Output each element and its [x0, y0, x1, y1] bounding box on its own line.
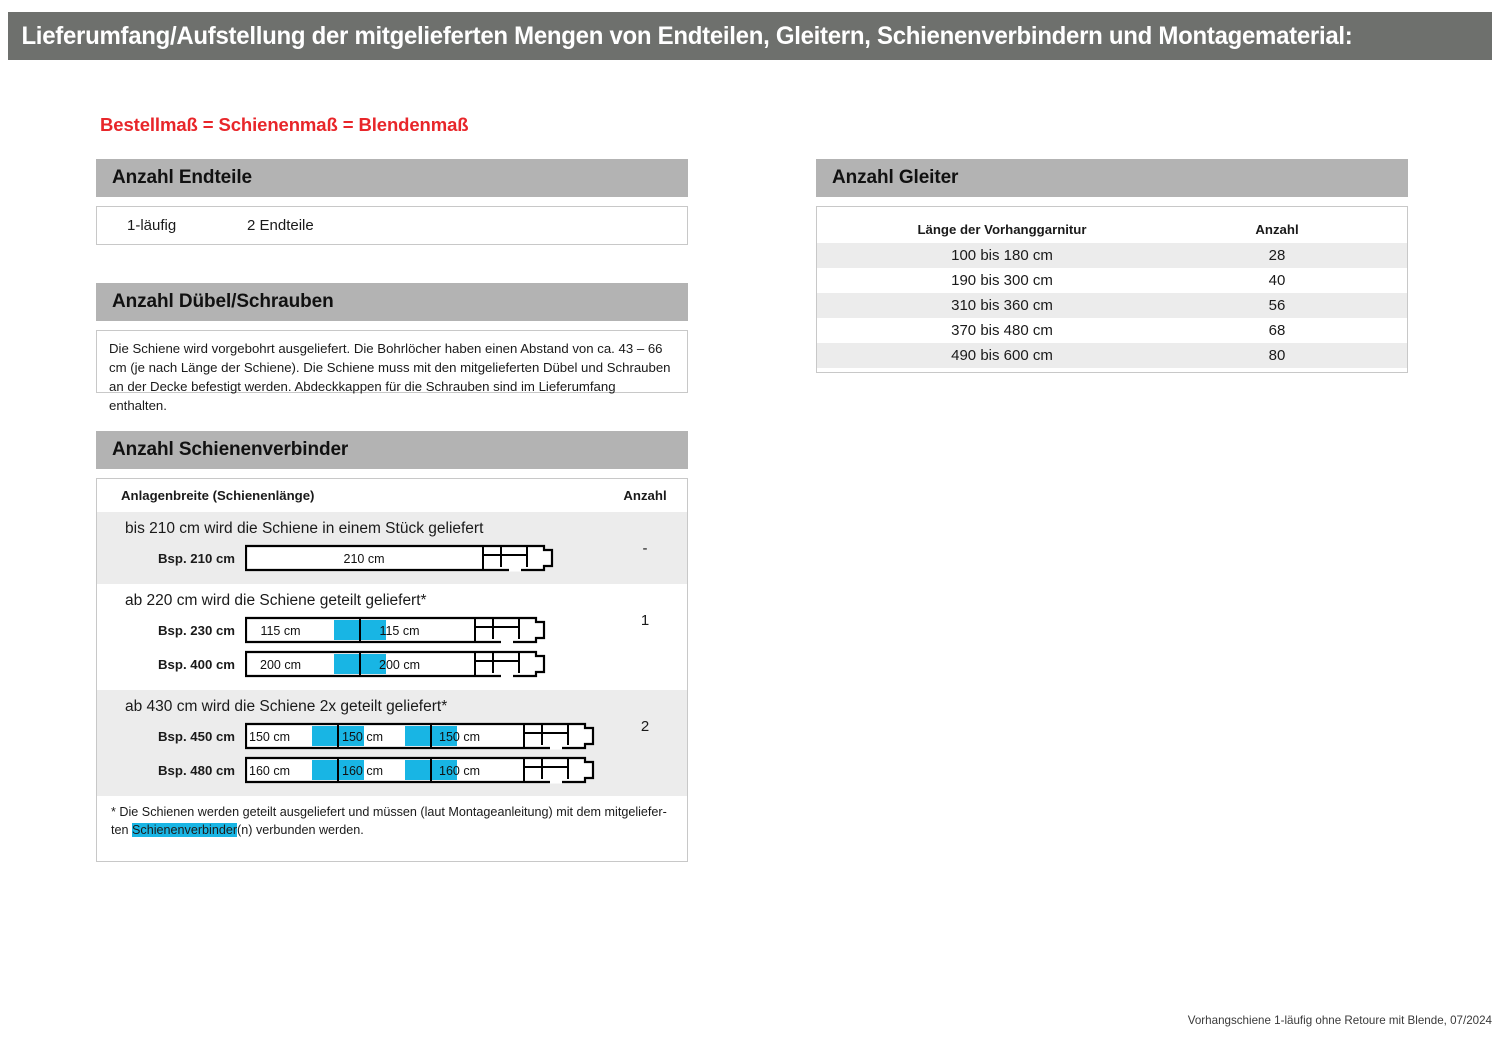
gleiter-count-cell: 56 [1187, 297, 1367, 314]
rail-example-row: Bsp. 230 cm115 cm115 cm [97, 613, 603, 647]
rail-example-label: Bsp. 230 cm [97, 623, 245, 638]
gleiter-row-list: 100 bis 180 cm28190 bis 300 cm40310 bis … [817, 243, 1407, 368]
column-header-anlagenbreite: Anlagenbreite (Schienenlänge) [121, 488, 603, 503]
schienenverbinder-group-count: 1 [603, 584, 687, 690]
svg-text:150 cm: 150 cm [342, 730, 383, 744]
svg-text:200 cm: 200 cm [260, 658, 301, 672]
gleiter-range-cell: 100 bis 180 cm [817, 247, 1187, 264]
footnote-part-2: (n) verbunden werden. [237, 823, 364, 837]
gleiter-table-row: 310 bis 360 cm56 [817, 293, 1407, 318]
schienenverbinder-group: ab 220 cm wird die Schiene geteilt gelie… [97, 584, 687, 690]
schienenverbinder-group: ab 430 cm wird die Schiene 2x geteilt ge… [97, 690, 687, 796]
svg-text:200 cm: 200 cm [379, 658, 420, 672]
section-header-duebel: Anzahl Dübel/Schrauben [96, 283, 688, 321]
gleiter-header-row: Länge der Vorhanggarnitur Anzahl [817, 213, 1407, 243]
rail-example-label: Bsp. 480 cm [97, 763, 245, 778]
schienenverbinder-box: Anlagenbreite (Schienenlänge) Anzahl bis… [96, 478, 688, 862]
schienenverbinder-footnote: * Die Schienen werden geteilt ausgeliefe… [97, 796, 687, 839]
gleiter-table-row: 190 bis 300 cm40 [817, 268, 1407, 293]
rail-diagram: 150 cm150 cm150 cm [245, 721, 598, 751]
section-header-gleiter-label: Anzahl Gleiter [816, 167, 958, 189]
endteile-value: 2 Endteile [247, 217, 314, 234]
svg-text:150 cm: 150 cm [249, 730, 290, 744]
rail-diagram: 115 cm115 cm [245, 615, 549, 645]
rail-example-row: Bsp. 480 cm160 cm160 cm160 cm [97, 753, 603, 787]
column-header-anzahl: Anzahl [603, 488, 687, 503]
svg-text:210 cm: 210 cm [344, 552, 385, 566]
gleiter-range-cell: 490 bis 600 cm [817, 347, 1187, 364]
rail-example-label: Bsp. 210 cm [97, 551, 245, 566]
svg-text:160 cm: 160 cm [439, 764, 480, 778]
gleiter-table-row: 100 bis 180 cm28 [817, 243, 1407, 268]
schienenverbinder-group-count: - [603, 512, 687, 584]
section-header-endteile-label: Anzahl Endteile [96, 167, 252, 189]
gleiter-column-header-laenge: Länge der Vorhanggarnitur [817, 222, 1187, 237]
schienenverbinder-group-caption: ab 220 cm wird die Schiene geteilt gelie… [97, 589, 603, 613]
section-header-gleiter: Anzahl Gleiter [816, 159, 1408, 197]
section-header-schienenverbinder-label: Anzahl Schienenverbinder [96, 439, 348, 461]
rail-example-label: Bsp. 450 cm [97, 729, 245, 744]
page-title: Lieferumfang/Aufstellung der mitgeliefer… [8, 22, 1353, 51]
schienenverbinder-group-list: bis 210 cm wird die Schiene in einem Stü… [97, 512, 687, 796]
schienenverbinder-group: bis 210 cm wird die Schiene in einem Stü… [97, 512, 687, 584]
svg-text:115 cm: 115 cm [379, 624, 419, 638]
gleiter-table-row: 370 bis 480 cm68 [817, 318, 1407, 343]
schienenverbinder-group-main: ab 430 cm wird die Schiene 2x geteilt ge… [97, 690, 603, 796]
schienenverbinder-group-count: 2 [603, 690, 687, 796]
gleiter-count-cell: 68 [1187, 322, 1367, 339]
duebel-box: Die Schiene wird vorgebohrt ausgeliefert… [96, 330, 688, 393]
svg-text:150 cm: 150 cm [439, 730, 480, 744]
endteile-box: 1-läufig 2 Endteile [96, 206, 688, 245]
gleiter-range-cell: 310 bis 360 cm [817, 297, 1187, 314]
footnote-highlight: Schienenverbinder [132, 823, 237, 837]
gleiter-count-cell: 28 [1187, 247, 1367, 264]
rail-diagram: 210 cm [245, 543, 557, 573]
rail-diagram: 200 cm200 cm [245, 649, 549, 679]
gleiter-range-cell: 190 bis 300 cm [817, 272, 1187, 289]
schienenverbinder-group-main: ab 220 cm wird die Schiene geteilt gelie… [97, 584, 603, 690]
gleiter-range-cell: 370 bis 480 cm [817, 322, 1187, 339]
schienenverbinder-group-caption: ab 430 cm wird die Schiene 2x geteilt ge… [97, 695, 603, 719]
schienenverbinder-group-inner: bis 210 cm wird die Schiene in einem Stü… [97, 512, 687, 584]
page-banner: Lieferumfang/Aufstellung der mitgeliefer… [8, 12, 1492, 60]
gleiter-count-cell: 40 [1187, 272, 1367, 289]
rail-example-row: Bsp. 400 cm200 cm200 cm [97, 647, 603, 681]
schienenverbinder-group-inner: ab 220 cm wird die Schiene geteilt gelie… [97, 584, 687, 690]
gleiter-column-header-anzahl: Anzahl [1187, 222, 1367, 237]
rail-example-row: Bsp. 210 cm210 cm [97, 541, 603, 575]
schienenverbinder-group-caption: bis 210 cm wird die Schiene in einem Stü… [97, 517, 603, 541]
schienenverbinder-group-inner: ab 430 cm wird die Schiene 2x geteilt ge… [97, 690, 687, 796]
svg-text:160 cm: 160 cm [342, 764, 383, 778]
section-header-schienenverbinder: Anzahl Schienenverbinder [96, 431, 688, 469]
section-header-endteile: Anzahl Endteile [96, 159, 688, 197]
rail-diagram: 160 cm160 cm160 cm [245, 755, 598, 785]
svg-text:115 cm: 115 cm [260, 624, 300, 638]
gleiter-table-row: 490 bis 600 cm80 [817, 343, 1407, 368]
rail-example-row: Bsp. 450 cm150 cm150 cm150 cm [97, 719, 603, 753]
endteile-variant: 1-läufig [97, 217, 247, 234]
section-header-duebel-label: Anzahl Dübel/Schrauben [96, 291, 334, 313]
gleiter-table: Länge der Vorhanggarnitur Anzahl 100 bis… [816, 206, 1408, 373]
bestellmass-heading: Bestellmaß = Schienenmaß = Blendenmaß [100, 114, 468, 136]
page-footer: Vorhangschiene 1-läufig ohne Retoure mit… [1188, 1014, 1492, 1027]
schienenverbinder-group-main: bis 210 cm wird die Schiene in einem Stü… [97, 512, 603, 584]
duebel-text: Die Schiene wird vorgebohrt ausgeliefert… [109, 339, 675, 415]
svg-text:160 cm: 160 cm [249, 764, 290, 778]
schienenverbinder-table-header: Anlagenbreite (Schienenlänge) Anzahl [97, 479, 687, 512]
gleiter-count-cell: 80 [1187, 347, 1367, 364]
rail-example-label: Bsp. 400 cm [97, 657, 245, 672]
